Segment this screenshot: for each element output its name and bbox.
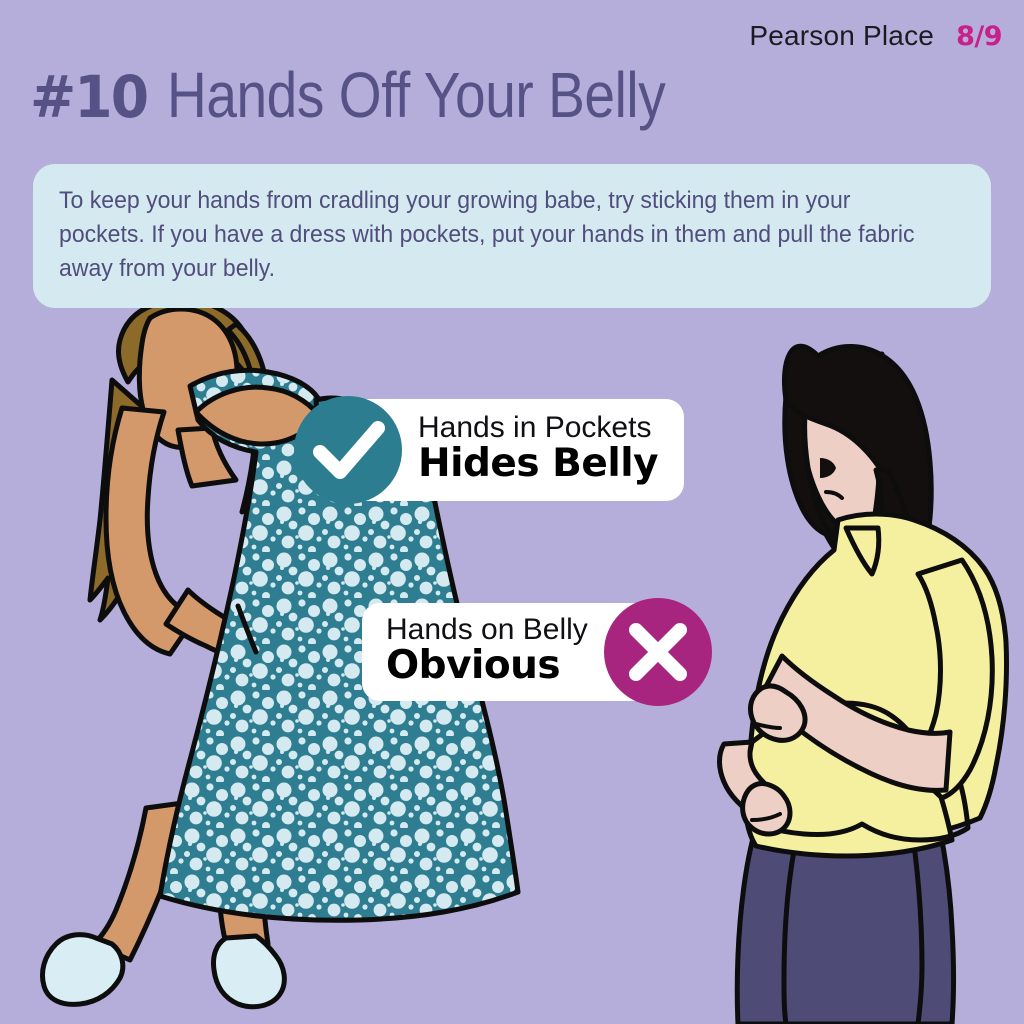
- description-box: To keep your hands from cradling your gr…: [33, 164, 991, 308]
- check-icon: [294, 396, 402, 504]
- brand-row: Pearson Place 8/9: [749, 20, 1002, 52]
- page-title: #10 Hands Off Your Belly: [30, 58, 747, 132]
- badge-good-line2: Hides Belly: [418, 443, 658, 485]
- badge-hands-in-pockets: Hands in Pockets Hides Belly: [294, 396, 684, 504]
- page-counter: 8/9: [956, 21, 1002, 52]
- illustration-layer: [0, 0, 1024, 1024]
- title-text: Hands Off Your Belly: [167, 58, 665, 132]
- badge-good-line1: Hands in Pockets: [418, 413, 658, 443]
- badge-bad-line1: Hands on Belly: [386, 615, 588, 645]
- description-text: To keep your hands from cradling your gr…: [59, 184, 929, 286]
- badge-bad-line2: Obvious: [386, 645, 588, 687]
- title-number: #10: [30, 63, 147, 131]
- x-icon: [604, 598, 712, 706]
- right-figure-woman-hands-on-belly: [720, 346, 1007, 1024]
- brand-name: Pearson Place: [749, 20, 934, 52]
- badge-hands-on-belly: Hands on Belly Obvious: [362, 598, 712, 706]
- infographic-canvas: Pearson Place 8/9 #10 Hands Off Your Bel…: [0, 0, 1024, 1024]
